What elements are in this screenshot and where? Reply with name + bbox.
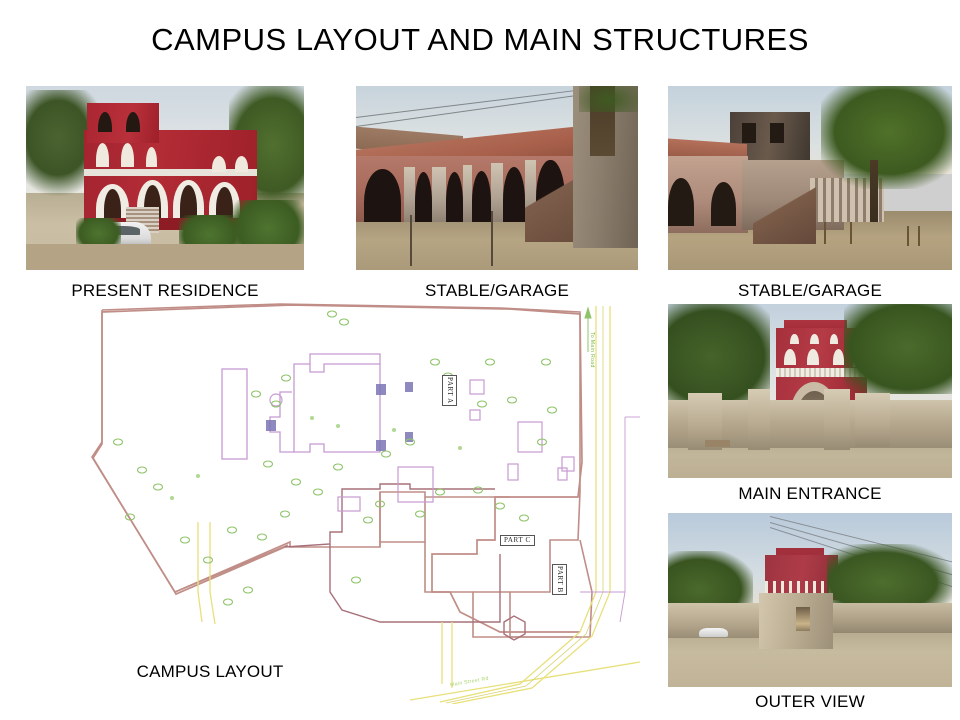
- campus-layout-svg: [80, 292, 640, 704]
- building-main-complex: [270, 354, 380, 452]
- map-minor-label-left: [202, 564, 207, 565]
- photo-present-residence-image: [26, 86, 304, 270]
- part-c-boundary: [285, 484, 500, 622]
- photo-outer-view: [668, 513, 952, 687]
- site-boundary-south: [380, 497, 578, 637]
- tree-symbols: [114, 311, 557, 605]
- caption-campus-layout: CAMPUS LAYOUT: [60, 662, 360, 682]
- map-label-part-b: PART B: [552, 564, 567, 595]
- map-minor-label-gate: [215, 592, 220, 593]
- photo-outer-view-image: [668, 513, 952, 687]
- tree-symbols-small: [170, 416, 462, 500]
- map-road-label-main-road: To Main Road: [589, 332, 595, 368]
- photo-stable-garage-1: [356, 86, 638, 270]
- photo-main-entrance-image: [668, 304, 952, 478]
- building-left-block: [222, 369, 247, 459]
- caption-outer-view: OUTER VIEW: [668, 692, 952, 712]
- campus-layout-drawing: PART A PART C PART B To Main Road Main S…: [80, 292, 640, 704]
- map-label-part-c: PART C: [500, 535, 535, 546]
- photo-main-entrance: [668, 304, 952, 478]
- slide-canvas: CAMPUS LAYOUT AND MAIN STRUCTURES: [0, 0, 960, 720]
- photo-stable-garage-2: [668, 86, 952, 270]
- photo-stable-garage-2-image: [668, 86, 952, 270]
- photo-stable-garage-1-image: [356, 86, 638, 270]
- page-title: CAMPUS LAYOUT AND MAIN STRUCTURES: [0, 22, 960, 58]
- map-label-part-a: PART A: [442, 375, 457, 406]
- caption-stable-garage-2: STABLE/GARAGE: [668, 281, 952, 301]
- caption-main-entrance: MAIN ENTRANCE: [668, 484, 952, 504]
- photo-present-residence: [26, 86, 304, 270]
